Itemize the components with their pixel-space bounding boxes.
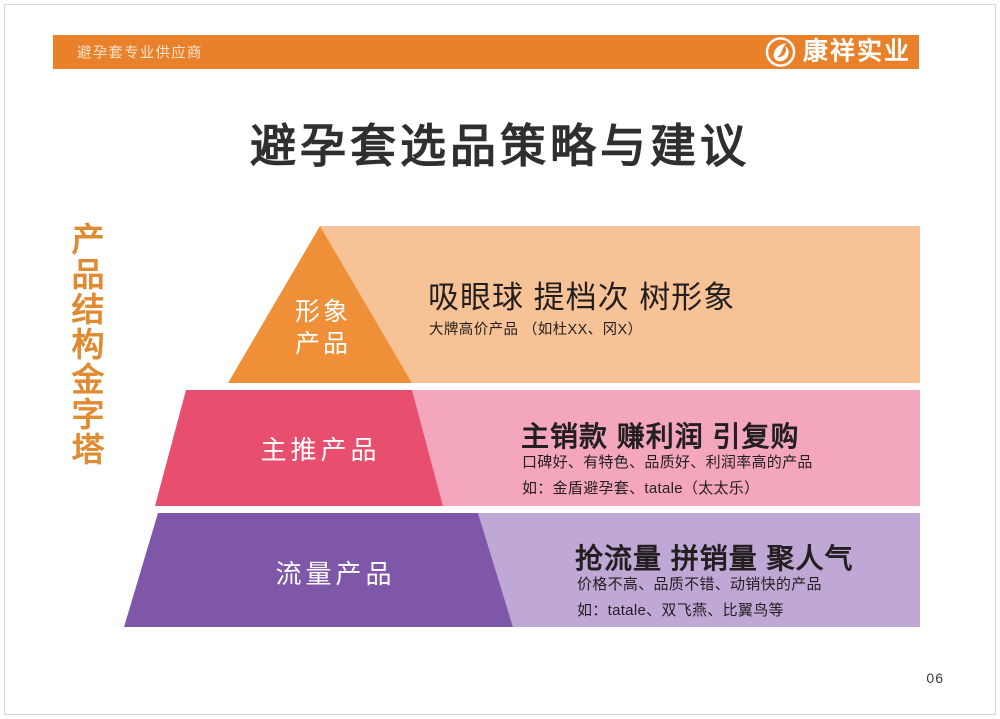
slide-canvas: 避孕套专业供应商 康祥实业 避孕套选品策略与建议 产品结构金字塔 形象 产品 吸… [0, 0, 1000, 719]
tier-2-subtitle-1: 口碑好、有特色、品质好、利润率高的产品 [522, 451, 813, 472]
tier-1-subtitle-1: 大牌高价产品 （如杜XX、冈X） [429, 318, 642, 339]
tier-2-subtitle-2: 如：金盾避孕套、tatale（太太乐） [522, 477, 759, 498]
page-number: 06 [926, 670, 944, 686]
tier-2-label: 主推产品 [233, 430, 408, 467]
brand-block: 康祥实业 [765, 37, 911, 68]
tier-3-subtitle-2: 如：tatale、双飞燕、比翼鸟等 [577, 599, 784, 620]
pyramid-diagram [0, 0, 1000, 719]
leaf-circle-logo-icon [765, 37, 796, 68]
tier-2-headline: 主销款 赚利润 引复购 [521, 415, 800, 455]
tier-3-subtitle-1: 价格不高、品质不错、动销快的产品 [577, 573, 822, 594]
tier-1-label: 形象 产品 [268, 296, 378, 360]
tier-3-headline: 抢流量 拼销量 聚人气 [575, 537, 854, 577]
header-bar: 避孕套专业供应商 康祥实业 [53, 35, 919, 69]
tier-1-headline: 吸眼球 提档次 树形象 [428, 272, 735, 317]
page-title: 避孕套选品策略与建议 [0, 110, 1000, 176]
tier-3-label: 流量产品 [248, 554, 423, 591]
brand-name: 康祥实业 [803, 40, 911, 65]
vertical-section-label: 产品结构金字塔 [62, 222, 106, 467]
header-tagline: 避孕套专业供应商 [77, 42, 203, 63]
